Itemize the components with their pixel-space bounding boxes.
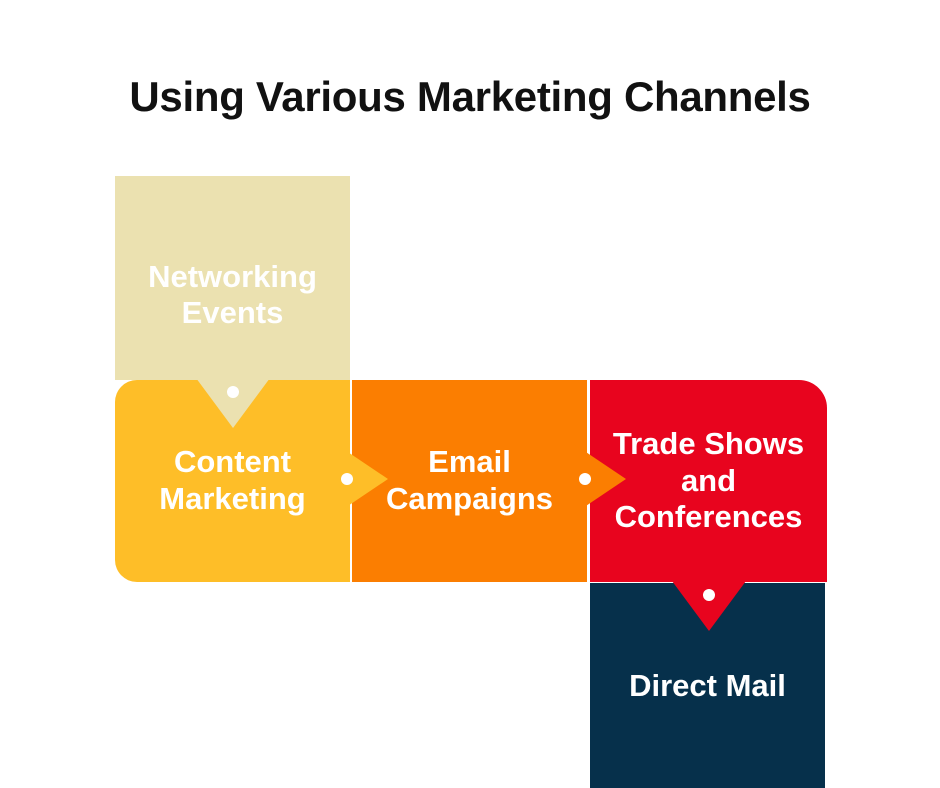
node-networking-events-label: Networking Events: [115, 259, 350, 332]
node-direct-mail-label: Direct Mail: [590, 668, 825, 705]
page-title: Using Various Marketing Channels: [0, 74, 940, 120]
diagram-canvas: Using Various Marketing Channels Network…: [0, 0, 940, 788]
node-networking-events[interactable]: Networking Events: [115, 176, 350, 380]
node-content-marketing[interactable]: Content Marketing: [115, 380, 350, 582]
node-trade-shows-and-conferences-label: Trade Shows and Conferences: [590, 426, 827, 536]
node-email-campaigns[interactable]: Email Campaigns: [352, 380, 587, 582]
node-trade-shows-and-conferences[interactable]: Trade Shows and Conferences: [590, 380, 827, 582]
node-email-campaigns-label: Email Campaigns: [352, 444, 587, 517]
node-content-marketing-label: Content Marketing: [115, 444, 350, 517]
node-direct-mail[interactable]: Direct Mail: [590, 583, 825, 788]
